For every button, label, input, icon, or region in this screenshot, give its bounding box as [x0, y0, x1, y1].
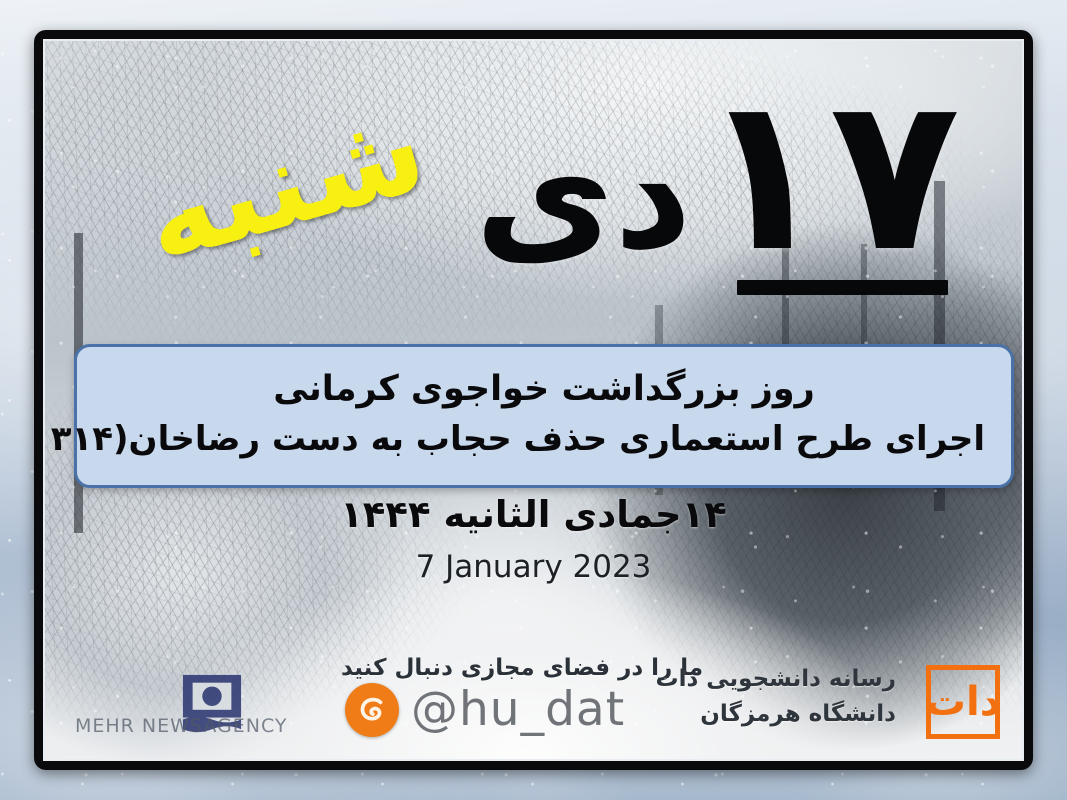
- media-name-line-2: دانشگاه هرمزگان: [655, 697, 896, 732]
- follow-us-text: ما را در فضای مجازی دنبال کنید: [341, 655, 703, 681]
- photo-frame: شنبه دی ۱۷ روز بزرگداشت خواجوی کرمانی اج…: [34, 30, 1033, 770]
- month-label: دی: [475, 119, 692, 271]
- footer: MEHR NEWSAGENCY ما را در فضای مجازی دنبا…: [45, 631, 1022, 759]
- mehr-news-logo: MEHR NEWSAGENCY: [71, 673, 251, 739]
- social-handle[interactable]: @hu_dat: [411, 682, 625, 737]
- eitaa-glyph: [355, 693, 389, 727]
- dat-logo-text: دات: [926, 682, 1000, 722]
- headline-box: روز بزرگداشت خواجوی کرمانی اجرای طرح است…: [74, 344, 1014, 488]
- headline-line-2: اجرای طرح استعماری حذف حجاب به دست رضاخا…: [103, 415, 985, 464]
- photo-frame-inner: شنبه دی ۱۷ روز بزرگداشت خواجوی کرمانی اج…: [43, 39, 1024, 761]
- eitaa-icon[interactable]: [345, 683, 399, 737]
- media-name-line-1: رسانه دانشجویی دات: [655, 662, 896, 697]
- headline-line-1: روز بزرگداشت خواجوی کرمانی: [103, 364, 985, 415]
- mehr-wordmark: MEHR NEWSAGENCY: [75, 715, 253, 737]
- media-name: رسانه دانشجویی دات دانشگاه هرمزگان: [655, 662, 896, 731]
- social-handle-row[interactable]: @hu_dat: [345, 682, 625, 737]
- dat-logo: دات: [926, 665, 1000, 739]
- day-number: ۱۷: [725, 77, 960, 274]
- hijri-date: ۱۴جمادی الثانیه ۱۴۴۴: [45, 493, 1022, 536]
- gregorian-date: 7 January 2023: [45, 549, 1022, 585]
- day-number-group: ۱۷: [725, 77, 960, 295]
